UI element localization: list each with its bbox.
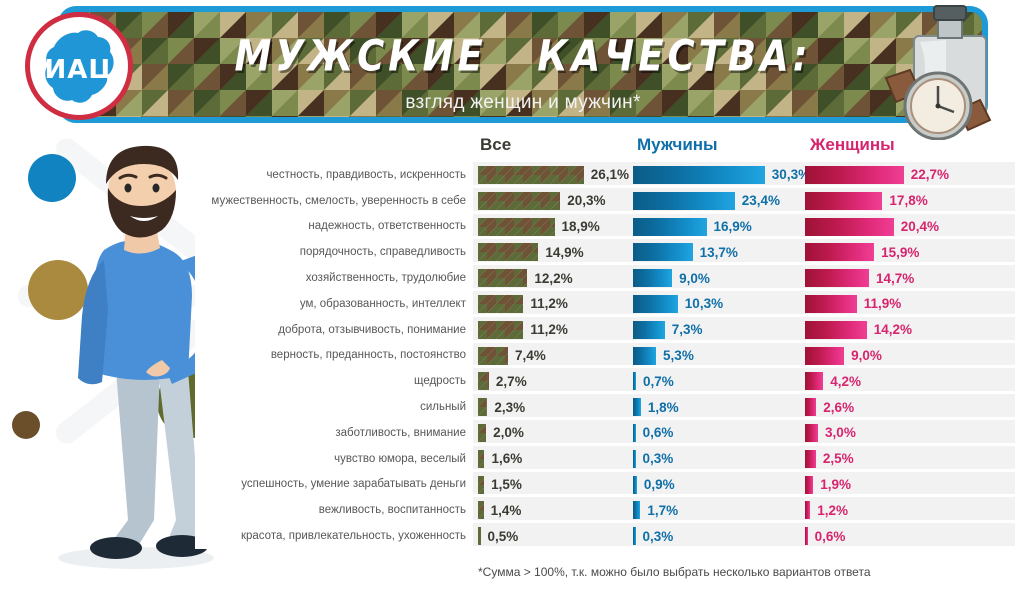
bar-value-men: 5,3%	[663, 343, 694, 369]
bar-men	[633, 192, 735, 210]
bar-value-women: 0,6%	[815, 523, 846, 549]
iac-logo[interactable]: ИАЦ	[25, 12, 133, 120]
bar-cell-women: 3,0%	[805, 420, 1015, 446]
bar-value-women: 1,2%	[817, 497, 848, 523]
bar-women	[805, 166, 904, 184]
bar-women	[805, 424, 818, 442]
bar-women	[805, 295, 857, 313]
bar-cell-all: 14,9%	[478, 239, 633, 265]
bar-all	[478, 243, 538, 261]
logo-label: ИАЦ	[30, 55, 128, 85]
bar-men	[633, 269, 672, 287]
chart-rows: честность, правдивость, искренность26,1%…	[195, 162, 1015, 549]
bar-cell-women: 22,7%	[805, 162, 1015, 188]
bar-value-all: 26,1%	[591, 162, 629, 188]
bar-cell-men: 10,3%	[633, 291, 803, 317]
row-label: доброта, отзывчивость, понимание	[195, 317, 473, 343]
table-row: верность, преданность, постоянство7,4%5,…	[195, 343, 1015, 369]
row-label: порядочность, справедливость	[195, 239, 473, 265]
bar-cell-men: 13,7%	[633, 239, 803, 265]
bar-cell-women: 1,2%	[805, 497, 1015, 523]
bar-cell-women: 14,2%	[805, 317, 1015, 343]
bar-value-all: 2,0%	[493, 420, 524, 446]
row-label: успешность, умение зарабатывать деньги	[195, 472, 473, 498]
bar-value-women: 20,4%	[901, 214, 939, 240]
bar-men	[633, 450, 636, 468]
bar-value-men: 1,8%	[648, 394, 679, 420]
row-label: вежливость, воспитанность	[195, 497, 473, 523]
row-label: чувство юмора, веселый	[195, 446, 473, 472]
page-subtitle: взгляд женщин и мужчин*	[64, 92, 982, 114]
bar-cell-men: 7,3%	[633, 317, 803, 343]
left-shoe	[90, 537, 142, 559]
bar-cell-all: 2,3%	[478, 394, 633, 420]
bar-value-all: 1,5%	[491, 472, 522, 498]
bar-cell-all: 0,5%	[478, 523, 633, 549]
bar-cell-women: 15,9%	[805, 239, 1015, 265]
footnote: *Сумма > 100%, т.к. можно было выбрать н…	[478, 565, 871, 579]
bar-women	[805, 501, 810, 519]
bar-value-all: 2,7%	[496, 368, 527, 394]
bar-women	[805, 527, 808, 545]
header-banner: МУЖСКИЕ КАЧЕСТВА: взгляд женщин и мужчин…	[58, 6, 988, 123]
bar-all	[478, 166, 584, 184]
infographic-root: МУЖСКИЕ КАЧЕСТВА: взгляд женщин и мужчин…	[0, 0, 1024, 590]
column-header-men: Мужчины	[637, 135, 718, 155]
bar-men	[633, 321, 665, 339]
bar-men	[633, 372, 636, 390]
bar-women	[805, 192, 882, 210]
bar-men	[633, 476, 637, 494]
bar-value-all: 7,4%	[515, 343, 546, 369]
table-row: порядочность, справедливость14,9%13,7%15…	[195, 239, 1015, 265]
table-row: сильный2,3%1,8%2,6%	[195, 394, 1015, 420]
bar-all	[478, 295, 523, 313]
table-row: щедрость2,7%0,7%4,2%	[195, 368, 1015, 394]
bar-cell-men: 0,7%	[633, 368, 803, 394]
bar-cell-men: 0,6%	[633, 420, 803, 446]
table-row: честность, правдивость, искренность26,1%…	[195, 162, 1015, 188]
bar-value-men: 0,3%	[643, 523, 674, 549]
bar-cell-women: 1,9%	[805, 472, 1015, 498]
bar-cell-all: 20,3%	[478, 188, 633, 214]
bar-cell-men: 0,3%	[633, 523, 803, 549]
bar-cell-women: 20,4%	[805, 214, 1015, 240]
bar-cell-women: 2,6%	[805, 394, 1015, 420]
bar-value-all: 12,2%	[534, 265, 572, 291]
bar-cell-women: 11,9%	[805, 291, 1015, 317]
bar-cell-all: 7,4%	[478, 343, 633, 369]
table-row: вежливость, воспитанность1,4%1,7%1,2%	[195, 497, 1015, 523]
perfume-and-watch-illustration	[880, 0, 1020, 140]
bar-women	[805, 372, 823, 390]
bar-cell-all: 1,6%	[478, 446, 633, 472]
row-label: щедрость	[195, 368, 473, 394]
table-row: хозяйственность, трудолюбие12,2%9,0%14,7…	[195, 265, 1015, 291]
bar-cell-men: 16,9%	[633, 214, 803, 240]
bar-cell-all: 2,0%	[478, 420, 633, 446]
page-title: МУЖСКИЕ КАЧЕСТВА:	[64, 31, 982, 81]
bar-cell-men: 1,8%	[633, 394, 803, 420]
bar-all	[478, 476, 484, 494]
bar-cell-all: 26,1%	[478, 162, 633, 188]
bar-value-men: 0,9%	[644, 472, 675, 498]
right-eye	[153, 184, 160, 193]
bar-cell-women: 0,6%	[805, 523, 1015, 549]
bar-value-men: 0,6%	[643, 420, 674, 446]
bar-value-women: 2,5%	[823, 446, 854, 472]
bar-value-men: 16,9%	[714, 214, 752, 240]
bar-value-men: 10,3%	[685, 291, 723, 317]
row-label: мужественность, смелость, уверенность в …	[195, 188, 473, 214]
bar-value-all: 0,5%	[488, 523, 519, 549]
bar-men	[633, 166, 765, 184]
bar-men	[633, 243, 693, 261]
bar-women	[805, 321, 867, 339]
table-row: чувство юмора, веселый1,6%0,3%2,5%	[195, 446, 1015, 472]
bar-women	[805, 450, 816, 468]
bar-women	[805, 243, 874, 261]
bar-all	[478, 372, 489, 390]
bar-all	[478, 501, 484, 519]
bar-value-all: 11,2%	[530, 291, 568, 317]
bar-value-women: 9,0%	[851, 343, 882, 369]
bar-value-men: 1,7%	[647, 497, 678, 523]
bar-value-all: 2,3%	[494, 394, 525, 420]
bar-value-women: 17,8%	[889, 188, 927, 214]
bar-men	[633, 347, 656, 365]
bar-all	[478, 321, 523, 339]
bar-women	[805, 476, 813, 494]
bar-women	[805, 398, 816, 416]
bar-cell-women: 17,8%	[805, 188, 1015, 214]
bar-all	[478, 192, 560, 210]
bar-value-women: 15,9%	[881, 239, 919, 265]
row-label: честность, правдивость, искренность	[195, 162, 473, 188]
table-row: успешность, умение зарабатывать деньги1,…	[195, 472, 1015, 498]
bar-all	[478, 218, 555, 236]
bar-men	[633, 424, 636, 442]
bar-cell-all: 11,2%	[478, 317, 633, 343]
bar-value-all: 14,9%	[545, 239, 583, 265]
bar-value-all: 1,4%	[491, 497, 522, 523]
bar-all	[478, 269, 527, 287]
table-row: надежность, ответственность18,9%16,9%20,…	[195, 214, 1015, 240]
bar-cell-men: 30,3%	[633, 162, 803, 188]
bar-cell-all: 18,9%	[478, 214, 633, 240]
chart-area: Все Мужчины Женщины честность, правдивос…	[195, 135, 1015, 585]
row-label: верность, преданность, постоянство	[195, 343, 473, 369]
bar-cell-men: 0,9%	[633, 472, 803, 498]
row-label: сильный	[195, 394, 473, 420]
column-header-all: Все	[480, 135, 511, 155]
bar-men	[633, 527, 636, 545]
bar-value-men: 0,7%	[643, 368, 674, 394]
bar-cell-men: 23,4%	[633, 188, 803, 214]
bar-cell-men: 9,0%	[633, 265, 803, 291]
bar-value-all: 11,2%	[530, 317, 568, 343]
row-label: хозяйственность, трудолюбие	[195, 265, 473, 291]
table-row: заботливость, внимание2,0%0,6%3,0%	[195, 420, 1015, 446]
bar-men	[633, 218, 707, 236]
bar-cell-all: 1,5%	[478, 472, 633, 498]
bar-value-women: 2,6%	[823, 394, 854, 420]
bar-men	[633, 501, 640, 519]
bar-value-all: 20,3%	[567, 188, 605, 214]
bar-value-women: 11,9%	[864, 291, 902, 317]
bar-cell-women: 4,2%	[805, 368, 1015, 394]
row-label: заботливость, внимание	[195, 420, 473, 446]
table-row: мужественность, смелость, уверенность в …	[195, 188, 1015, 214]
bar-value-men: 0,3%	[643, 446, 674, 472]
bar-cell-all: 1,4%	[478, 497, 633, 523]
bar-women	[805, 269, 869, 287]
bar-value-men: 9,0%	[679, 265, 710, 291]
bar-cell-men: 1,7%	[633, 497, 803, 523]
bar-cell-men: 0,3%	[633, 446, 803, 472]
bar-all	[478, 527, 481, 545]
table-row: доброта, отзывчивость, понимание11,2%7,3…	[195, 317, 1015, 343]
row-label: красота, привлекательность, ухоженность	[195, 523, 473, 549]
bar-value-women: 14,2%	[874, 317, 912, 343]
bar-cell-all: 12,2%	[478, 265, 633, 291]
bar-value-men: 13,7%	[700, 239, 738, 265]
bar-cell-women: 14,7%	[805, 265, 1015, 291]
bar-value-men: 7,3%	[672, 317, 703, 343]
bar-value-men: 23,4%	[742, 188, 780, 214]
bar-cell-women: 9,0%	[805, 343, 1015, 369]
left-eye	[125, 184, 132, 193]
bar-value-women: 14,7%	[876, 265, 914, 291]
bar-value-women: 3,0%	[825, 420, 856, 446]
bar-women	[805, 218, 894, 236]
bar-value-women: 22,7%	[911, 162, 949, 188]
bar-women	[805, 347, 844, 365]
row-label: надежность, ответственность	[195, 214, 473, 240]
bar-men	[633, 398, 641, 416]
bar-value-women: 1,9%	[820, 472, 851, 498]
bar-all	[478, 398, 487, 416]
bar-cell-all: 2,7%	[478, 368, 633, 394]
table-row: ум, образованность, интеллект11,2%10,3%1…	[195, 291, 1015, 317]
table-row: красота, привлекательность, ухоженность0…	[195, 523, 1015, 549]
bar-value-all: 18,9%	[562, 214, 600, 240]
bar-value-women: 4,2%	[830, 368, 861, 394]
bar-all	[478, 424, 486, 442]
bar-value-all: 1,6%	[491, 446, 522, 472]
bar-cell-all: 11,2%	[478, 291, 633, 317]
bar-cell-women: 2,5%	[805, 446, 1015, 472]
bar-all	[478, 347, 508, 365]
bar-all	[478, 450, 484, 468]
bar-cell-men: 5,3%	[633, 343, 803, 369]
bar-men	[633, 295, 678, 313]
row-label: ум, образованность, интеллект	[195, 291, 473, 317]
